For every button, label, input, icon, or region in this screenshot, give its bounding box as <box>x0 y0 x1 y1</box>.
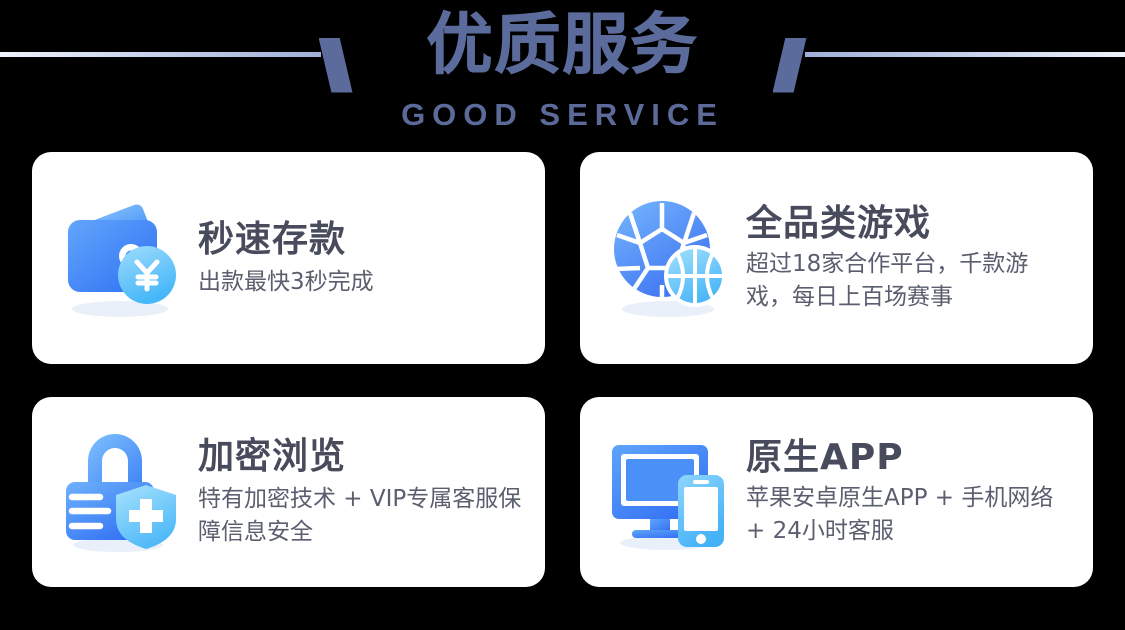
page-title: 优质服务 <box>0 8 1125 82</box>
card-text-deposit: 秒速存款 出款最快3秒完成 <box>198 218 523 299</box>
page-subtitle: GOOD SERVICE <box>0 97 1125 133</box>
card-description: 苹果安卓原生APP + 手机网络 + 24小时客服 <box>746 482 1071 548</box>
card-description: 出款最快3秒完成 <box>198 266 523 299</box>
feature-card-native-app[interactable]: 原生APP 苹果安卓原生APP + 手机网络 + 24小时客服 <box>580 397 1093 587</box>
feature-card-grid: 秒速存款 出款最快3秒完成 <box>32 152 1093 588</box>
card-title: 秒速存款 <box>198 218 523 262</box>
card-description: 超过18家合作平台，千款游戏，每日上百场赛事 <box>746 248 1071 314</box>
feature-card-deposit[interactable]: 秒速存款 出款最快3秒完成 <box>32 152 545 364</box>
monitor-phone-icon <box>606 427 736 557</box>
wallet-yen-icon <box>58 193 188 323</box>
feature-card-encryption[interactable]: 加密浏览 特有加密技术 + VIP专属客服保障信息安全 <box>32 397 545 587</box>
card-description: 特有加密技术 + VIP专属客服保障信息安全 <box>198 483 523 549</box>
card-text-native-app: 原生APP 苹果安卓原生APP + 手机网络 + 24小时客服 <box>746 436 1071 548</box>
card-title: 加密浏览 <box>198 435 523 479</box>
card-title: 原生APP <box>746 436 1071 480</box>
card-text-encryption: 加密浏览 特有加密技术 + VIP专属客服保障信息安全 <box>198 435 523 549</box>
feature-card-games[interactable]: 全品类游戏 超过18家合作平台，千款游戏，每日上百场赛事 <box>580 152 1093 364</box>
card-text-games: 全品类游戏 超过18家合作平台，千款游戏，每日上百场赛事 <box>746 202 1071 314</box>
lock-shield-icon <box>58 427 188 557</box>
soccer-basketball-icon <box>606 193 736 323</box>
promo-banner: 优质服务 GOOD SERVICE <box>0 0 1125 630</box>
banner-header: 优质服务 GOOD SERVICE <box>0 0 1125 146</box>
card-title: 全品类游戏 <box>746 202 1071 246</box>
